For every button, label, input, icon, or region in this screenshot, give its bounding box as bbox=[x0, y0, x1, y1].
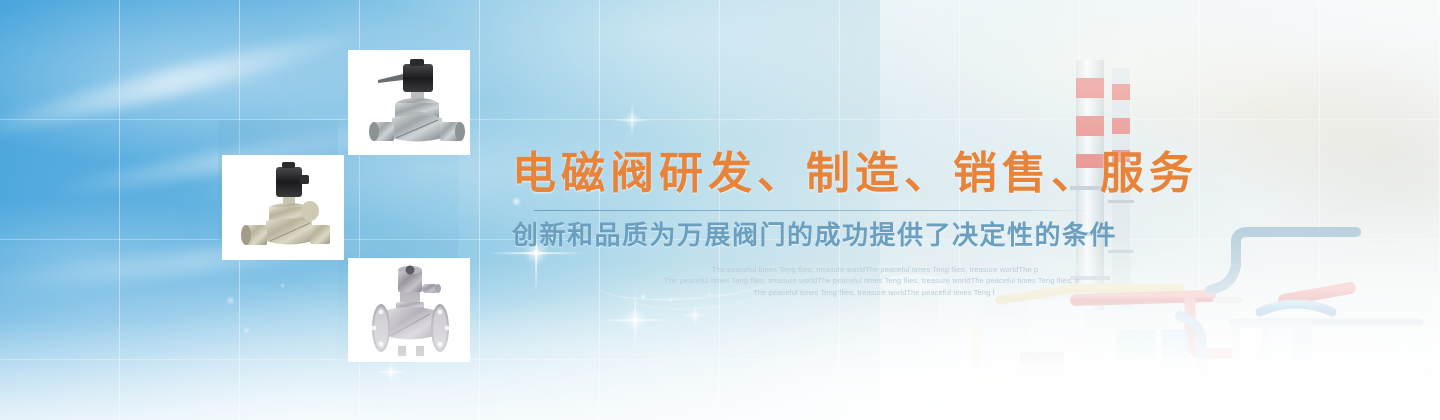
flanged-solenoid-valve-icon bbox=[348, 258, 470, 362]
sparkle-icon bbox=[612, 100, 652, 140]
product-thumb-flanged-valve[interactable] bbox=[348, 258, 470, 362]
hero-copy: 电磁阀研发、制造、销售、服务 创新和品质为万展阀门的成功提供了决定性的条件 Th… bbox=[512, 152, 1112, 298]
filler-line: The peaceful times Teng flies, treasure … bbox=[664, 287, 1084, 299]
product-thumb-threaded-valve-steel[interactable] bbox=[348, 50, 470, 155]
bokeh-dot bbox=[243, 327, 250, 334]
filler-paragraph: The peaceful times Teng flies, treasure … bbox=[640, 264, 1110, 299]
product-thumb-threaded-valve-brass[interactable] bbox=[222, 155, 344, 260]
bokeh-dot bbox=[280, 283, 285, 288]
threaded-solenoid-valve-steel-icon bbox=[348, 50, 470, 155]
bokeh-dot bbox=[226, 296, 235, 305]
filler-line: The peaceful times Teng flies, treasure … bbox=[612, 275, 1132, 287]
page-subtitle: 创新和品质为万展阀门的成功提供了决定性的条件 bbox=[512, 221, 1112, 250]
threaded-solenoid-valve-brass-icon bbox=[222, 155, 344, 260]
sparkle-icon bbox=[680, 300, 710, 330]
hero-banner: 电磁阀研发、制造、销售、服务 创新和品质为万展阀门的成功提供了决定性的条件 Th… bbox=[0, 0, 1440, 420]
equipment-racks bbox=[1020, 320, 1434, 406]
filler-line: The peaceful times Teng flies, treasure … bbox=[640, 264, 1110, 276]
cloud-wisp bbox=[0, 20, 377, 147]
title-divider bbox=[534, 210, 1094, 211]
page-title: 电磁阀研发、制造、销售、服务 bbox=[512, 152, 1112, 196]
